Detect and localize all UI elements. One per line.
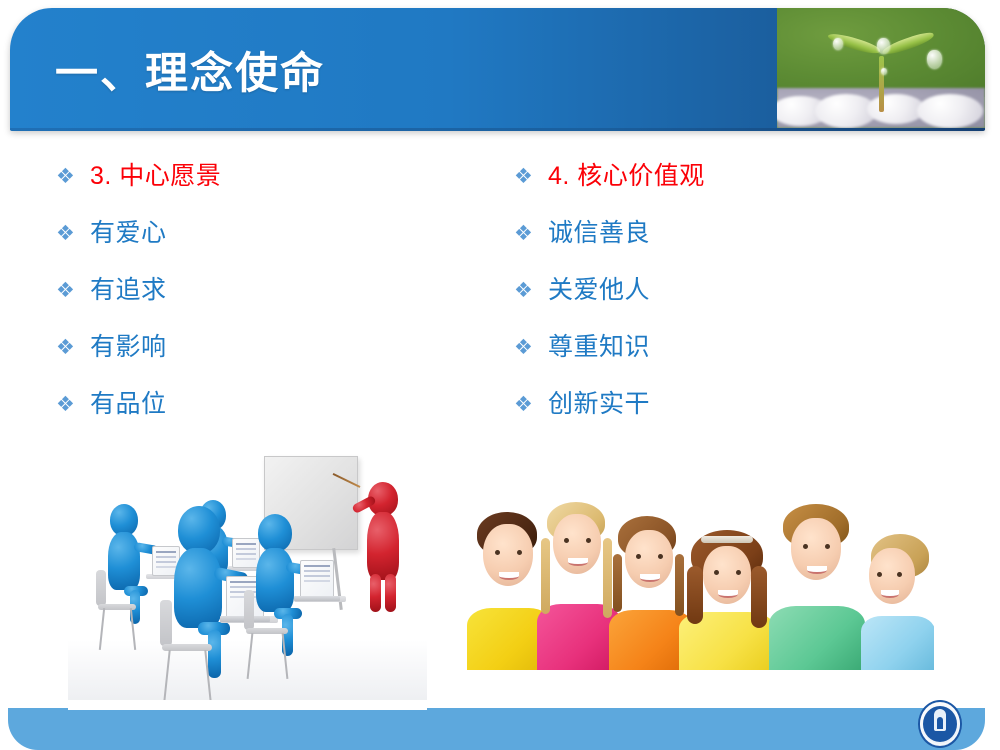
school-emblem-logo[interactable]: [918, 700, 962, 748]
list-item-label: 关爱他人: [548, 272, 650, 308]
braid: [613, 554, 622, 612]
diamond-bullet-icon: ❖: [514, 215, 548, 251]
mouth: [718, 590, 738, 598]
laptop-keyboard: [294, 596, 340, 601]
shirt: [861, 616, 934, 670]
teacher-leg: [370, 574, 381, 612]
logo-motif-icon: [934, 709, 946, 731]
seedling-photo: [777, 8, 985, 128]
dew-drop-icon: [833, 38, 843, 50]
classroom-illustration: [68, 438, 427, 710]
list-item[interactable]: ❖ 有追求: [56, 272, 476, 329]
eye: [564, 538, 569, 543]
student-head: [258, 514, 292, 552]
page-title: 一、理念使命: [55, 48, 325, 100]
child-figure: [861, 512, 934, 670]
list-item[interactable]: ❖ 诚信善良: [514, 215, 944, 272]
chair-back: [244, 590, 254, 630]
pebble-icon: [917, 94, 983, 128]
chair-back: [160, 600, 172, 646]
eye: [736, 570, 741, 575]
mouth: [881, 590, 899, 598]
laptop-icon: [300, 560, 334, 598]
diamond-bullet-icon: ❖: [514, 158, 548, 194]
list-item[interactable]: ❖ 有品位: [56, 386, 476, 443]
diamond-bullet-icon: ❖: [56, 329, 90, 365]
list-item[interactable]: ❖ 有爱心: [56, 215, 476, 272]
mouth: [568, 558, 588, 566]
list-item[interactable]: ❖ 4. 核心价值观: [514, 158, 944, 215]
list-item-label: 尊重知识: [548, 329, 650, 365]
teacher-body: [367, 512, 399, 580]
child-figure: [679, 508, 775, 670]
list-item-label: 4. 核心价值观: [548, 158, 705, 194]
image-overlap-mask: [68, 700, 427, 710]
slide-header: 一、理念使命: [10, 8, 985, 130]
hair-strand: [751, 566, 767, 628]
diamond-bullet-icon: ❖: [56, 272, 90, 308]
eye: [636, 554, 641, 559]
headband-icon: [701, 536, 753, 543]
eye: [495, 550, 500, 555]
list-item-label: 诚信善良: [548, 215, 650, 251]
diamond-bullet-icon: ❖: [514, 329, 548, 365]
dew-drop-icon: [927, 50, 942, 69]
list-item-label: 3. 中心愿景: [90, 158, 221, 194]
eye: [803, 544, 808, 549]
list-item[interactable]: ❖ 有影响: [56, 329, 476, 386]
chair-back: [96, 570, 106, 606]
student-head: [178, 506, 220, 554]
list-item-label: 创新实干: [548, 386, 650, 422]
hair-strand: [687, 566, 703, 624]
laptop-icon: [232, 538, 260, 568]
student-leg: [208, 630, 221, 678]
eye: [586, 538, 591, 543]
braid: [675, 554, 684, 616]
right-bullet-column: ❖ 4. 核心价值观 ❖ 诚信善良 ❖ 关爱他人 ❖ 尊重知识 ❖ 创新实干: [514, 158, 944, 443]
list-item[interactable]: ❖ 尊重知识: [514, 329, 944, 386]
dew-drop-icon: [877, 38, 890, 54]
list-item[interactable]: ❖ 关爱他人: [514, 272, 944, 329]
mouth: [807, 566, 827, 574]
eye: [714, 570, 719, 575]
list-item-label: 有影响: [90, 329, 167, 365]
list-item-label: 有追求: [90, 272, 167, 308]
diamond-bullet-icon: ❖: [56, 386, 90, 422]
eye: [517, 550, 522, 555]
shirt: [769, 606, 865, 670]
diamond-bullet-icon: ❖: [514, 272, 548, 308]
eye: [897, 572, 902, 577]
mouth: [640, 574, 660, 582]
teacher-leg: [385, 574, 396, 612]
child-figure: [769, 494, 865, 670]
header-underline: [10, 128, 985, 131]
eye: [825, 544, 830, 549]
braid: [541, 538, 550, 614]
slide: 一、理念使命 ❖ 3. 中心愿景 ❖ 有爱心 ❖ 有追求 ❖ 有影响 ❖: [0, 0, 1000, 750]
list-item[interactable]: ❖ 3. 中心愿景: [56, 158, 476, 215]
student-body: [256, 548, 294, 612]
children-photo: [457, 487, 934, 670]
list-item-label: 有爱心: [90, 215, 167, 251]
left-bullet-column: ❖ 3. 中心愿景 ❖ 有爱心 ❖ 有追求 ❖ 有影响 ❖ 有品位: [56, 158, 476, 443]
student-body: [108, 532, 140, 590]
student-body: [174, 548, 222, 628]
eye: [658, 554, 663, 559]
sprout-stem: [879, 56, 884, 112]
diamond-bullet-icon: ❖: [56, 215, 90, 251]
mouth: [499, 572, 519, 580]
diamond-bullet-icon: ❖: [514, 386, 548, 422]
eye: [877, 572, 882, 577]
footer-bar: [8, 708, 985, 750]
list-item-label: 有品位: [90, 386, 167, 422]
braid: [603, 538, 612, 618]
content-area: ❖ 3. 中心愿景 ❖ 有爱心 ❖ 有追求 ❖ 有影响 ❖ 有品位 ❖: [0, 158, 1000, 428]
dew-drop-icon: [881, 68, 887, 75]
list-item[interactable]: ❖ 创新实干: [514, 386, 944, 443]
diamond-bullet-icon: ❖: [56, 158, 90, 194]
